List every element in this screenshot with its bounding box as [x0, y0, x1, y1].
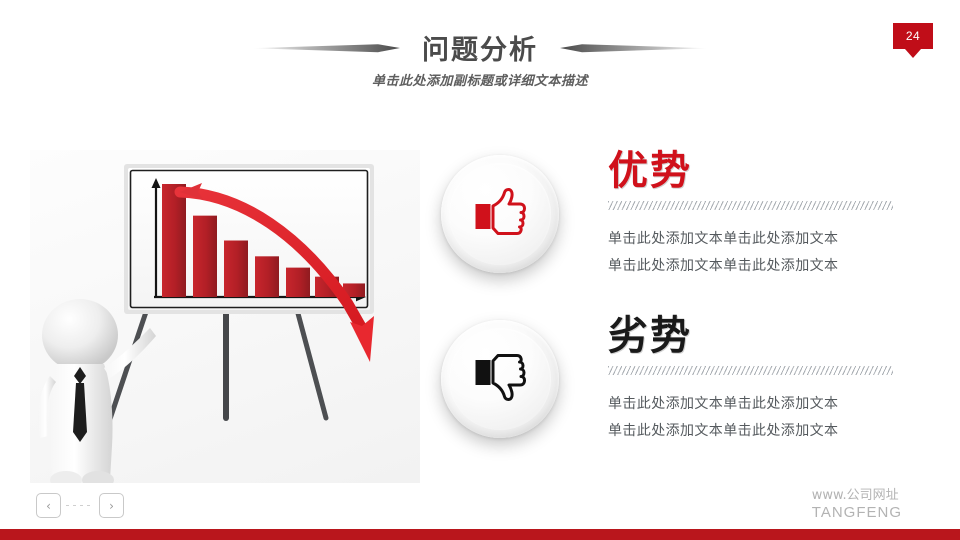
- tapered-arrow-left-icon: [560, 41, 708, 55]
- thumbs-up-icon: [474, 187, 526, 242]
- disadvantage-icon-button[interactable]: [441, 320, 559, 438]
- chevron-right-icon[interactable]: ›: [99, 493, 124, 518]
- footer-url: www.公司网址: [812, 488, 902, 504]
- advantage-icon-button[interactable]: [441, 155, 559, 273]
- illustration-svg: [30, 150, 420, 483]
- disadvantage-lines: 单击此处添加文本单击此处添加文本 单击此处添加文本单击此处添加文本: [608, 391, 893, 446]
- disadvantage-heading: 劣势: [608, 315, 893, 357]
- advantage-lines: 单击此处添加文本单击此处添加文本 单击此处添加文本单击此处添加文本: [608, 226, 893, 281]
- disadvantage-line-1: 单击此处添加文本单击此处添加文本: [608, 391, 893, 418]
- slide-navigation: ‹ ›: [36, 493, 124, 518]
- disadvantage-line-2: 单击此处添加文本单击此处添加文本: [608, 418, 893, 445]
- slide-header: 问题分析 单击此处添加副标题或详细文本描述: [0, 0, 960, 100]
- chevron-left-icon[interactable]: ‹: [36, 493, 61, 518]
- footer-brand: TANGFENG: [812, 504, 902, 523]
- advantage-line-1: 单击此处添加文本单击此处添加文本: [608, 226, 893, 253]
- nav-connector: [66, 505, 94, 506]
- advantage-line-2: 单击此处添加文本单击此处添加文本: [608, 253, 893, 280]
- advantage-block: 优势 单击此处添加文本单击此处添加文本 单击此处添加文本单击此处添加文本: [608, 150, 893, 281]
- tapered-arrow-right-icon: [252, 41, 400, 55]
- thumbs-down-icon: [474, 352, 526, 407]
- title-row: 问题分析: [0, 28, 960, 67]
- bottom-accent-bar: [0, 529, 960, 540]
- advantage-divider: [608, 201, 893, 210]
- footer: www.公司网址 TANGFENG: [812, 488, 902, 523]
- slide-canvas: 24 问题分析: [0, 0, 960, 540]
- advantage-heading: 优势: [608, 150, 893, 192]
- illustration-image: [30, 150, 420, 483]
- page-subtitle: 单击此处添加副标题或详细文本描述: [0, 70, 960, 89]
- 3d-mannequin-with-tie-icon: [38, 299, 156, 483]
- page-title: 问题分析: [422, 28, 538, 67]
- disadvantage-block: 劣势 单击此处添加文本单击此处添加文本 单击此处添加文本单击此处添加文本: [608, 315, 893, 446]
- disadvantage-divider: [608, 366, 893, 375]
